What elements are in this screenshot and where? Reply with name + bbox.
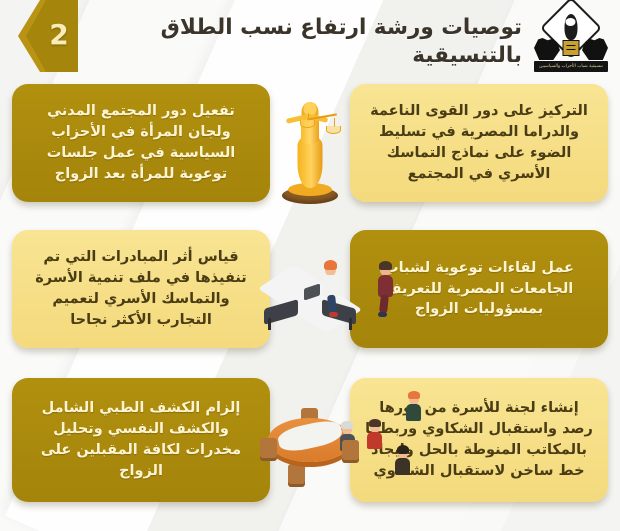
recommendation-card[interactable]: إنشاء لجنة للأسرة من دورها رصد واستقبال … [350,378,608,502]
scales-pan-icon [326,126,341,134]
recommendation-text: قياس أثر المبادرات التي تم تنفيذها في مل… [26,247,256,331]
person-hair [397,445,409,454]
logo-caption: تنسيقية شباب الأحزاب والسياسيين [534,61,608,72]
logo-pedestal-icon [563,40,580,56]
bench-leg [268,318,271,330]
badge-number: 2 [40,0,78,72]
person-hair [341,421,353,429]
recommendation-card[interactable]: تفعيل دور المجتمع المدني ولجان المرأة في… [12,84,270,202]
recommendation-card[interactable]: إلزام الكشف الطبي الشامل والكشف النفسي و… [12,378,270,502]
person-hair [324,260,337,270]
recommendation-row: إنشاء لجنة للأسرة من دورها رصد واستقبال … [0,378,620,506]
person-torso [367,432,382,449]
person-hair [379,261,392,270]
recommendation-text: تفعيل دور المجتمع المدني ولجان المرأة في… [26,101,256,185]
person-torso [395,458,410,475]
page-title: توصيات ورشة ارتفاع نسب الطلاق بالتنسيقية [92,14,522,70]
chair [342,440,359,460]
lady-justice-statue-illustration [267,80,353,208]
person-torso [406,404,421,421]
coalition-logo: تنسيقية شباب الأحزاب والسياسيين [528,4,614,74]
recommendation-text: عمل لقاءات توعوية لشباب الجامعات المصرية… [364,258,594,321]
scales-pan-icon [300,120,315,128]
conference-table-meeting-illustration [258,376,362,504]
person-torso [378,275,393,297]
header: تنسيقية شباب الأحزاب والسياسيين توصيات و… [0,0,620,78]
recommendation-row: عمل لقاءات توعوية لشباب الجامعات المصرية… [0,230,620,352]
recommendation-row: التركيز على دور القوى الناعمة والدراما ا… [0,84,620,206]
person-shoe [329,312,338,317]
person-hair [369,419,381,427]
scene-floor [258,265,363,333]
bench-leg [349,318,352,330]
recommendation-text: التركيز على دور القوى الناعمة والدراما ا… [364,101,594,185]
logo-figure-icon [565,14,578,40]
section-number-badge: 2 [0,0,78,72]
two-people-on-benches-illustration [262,234,358,346]
recommendation-card[interactable]: قياس أثر المبادرات التي تم تنفيذها في مل… [12,230,270,348]
person-hair [408,391,420,399]
recommendation-card[interactable]: التركيز على دور القوى الناعمة والدراما ا… [350,84,608,202]
recommendation-text: إلزام الكشف الطبي الشامل والكشف النفسي و… [26,398,256,482]
chair [288,464,305,484]
chair [260,438,277,458]
person-torso [323,275,338,297]
person-shoe [378,312,387,317]
